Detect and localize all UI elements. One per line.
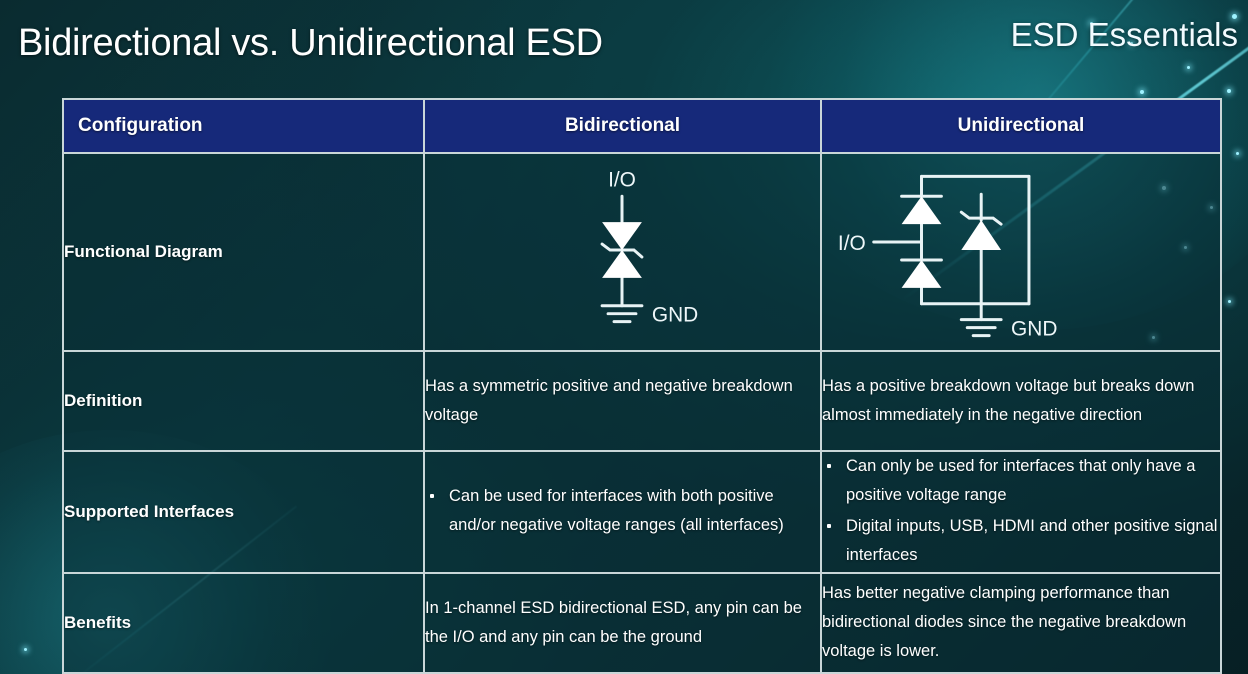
- table-row: Benefits In 1-channel ESD bidirectional …: [63, 573, 1221, 673]
- list-item: Can only be used for interfaces that onl…: [822, 452, 1220, 510]
- comparison-table: Configuration Bidirectional Unidirection…: [62, 98, 1222, 674]
- steering-diode-lower: [902, 260, 942, 288]
- background-particle: [1187, 66, 1190, 69]
- row-label-functional-diagram: Functional Diagram: [63, 153, 424, 351]
- gnd-label: GND: [1011, 318, 1057, 341]
- column-header-configuration: Configuration: [63, 99, 424, 153]
- unidirectional-esd-schematic: I/O GND: [822, 154, 1220, 350]
- table-row: Definition Has a symmetric positive and …: [63, 351, 1221, 451]
- series-subtitle: ESD Essentials: [1011, 16, 1238, 54]
- slide-canvas: Bidirectional vs. Unidirectional ESD ESD…: [0, 0, 1248, 674]
- table-header-row: Configuration Bidirectional Unidirection…: [63, 99, 1221, 153]
- bidirectional-esd-schematic: I/O GND: [425, 154, 820, 350]
- diode-triangle-top: [602, 222, 642, 250]
- cell-unidirectional-diagram: I/O GND: [821, 153, 1221, 351]
- column-header-bidirectional: Bidirectional: [424, 99, 821, 153]
- table-header: Configuration Bidirectional Unidirection…: [63, 99, 1221, 153]
- background-particle: [1227, 89, 1231, 93]
- background-particle: [1228, 300, 1231, 303]
- table-row: Functional Diagram: [63, 153, 1221, 351]
- diode-triangle-bottom: [602, 250, 642, 278]
- background-particle: [24, 648, 27, 651]
- cell-interfaces-unidirectional: Can only be used for interfaces that onl…: [821, 451, 1221, 573]
- tvs-diode-triangle: [961, 220, 1001, 250]
- cell-definition-bidirectional: Has a symmetric positive and negative br…: [424, 351, 821, 451]
- list-item: Digital inputs, USB, HDMI and other posi…: [822, 512, 1220, 570]
- bullet-list: Can only be used for interfaces that onl…: [822, 452, 1220, 570]
- cell-definition-unidirectional: Has a positive breakdown voltage but bre…: [821, 351, 1221, 451]
- io-label: I/O: [838, 232, 866, 255]
- cell-interfaces-bidirectional: Can be used for interfaces with both pos…: [424, 451, 821, 573]
- background-particle: [1140, 90, 1144, 94]
- cell-benefits-bidirectional: In 1-channel ESD bidirectional ESD, any …: [424, 573, 821, 673]
- column-header-unidirectional: Unidirectional: [821, 99, 1221, 153]
- background-particle: [1236, 152, 1239, 155]
- bullet-list: Can be used for interfaces with both pos…: [425, 482, 820, 540]
- steering-diode-upper: [902, 196, 942, 224]
- row-label-benefits: Benefits: [63, 573, 424, 673]
- cell-benefits-unidirectional: Has better negative clamping performance…: [821, 573, 1221, 673]
- row-label-definition: Definition: [63, 351, 424, 451]
- table-body: Functional Diagram: [63, 153, 1221, 673]
- row-label-supported-interfaces: Supported Interfaces: [63, 451, 424, 573]
- page-title: Bidirectional vs. Unidirectional ESD: [18, 22, 603, 65]
- table-row: Supported Interfaces Can be used for int…: [63, 451, 1221, 573]
- cell-bidirectional-diagram: I/O GND: [424, 153, 821, 351]
- gnd-label: GND: [652, 304, 698, 327]
- list-item: Can be used for interfaces with both pos…: [425, 482, 820, 540]
- io-label: I/O: [608, 168, 636, 191]
